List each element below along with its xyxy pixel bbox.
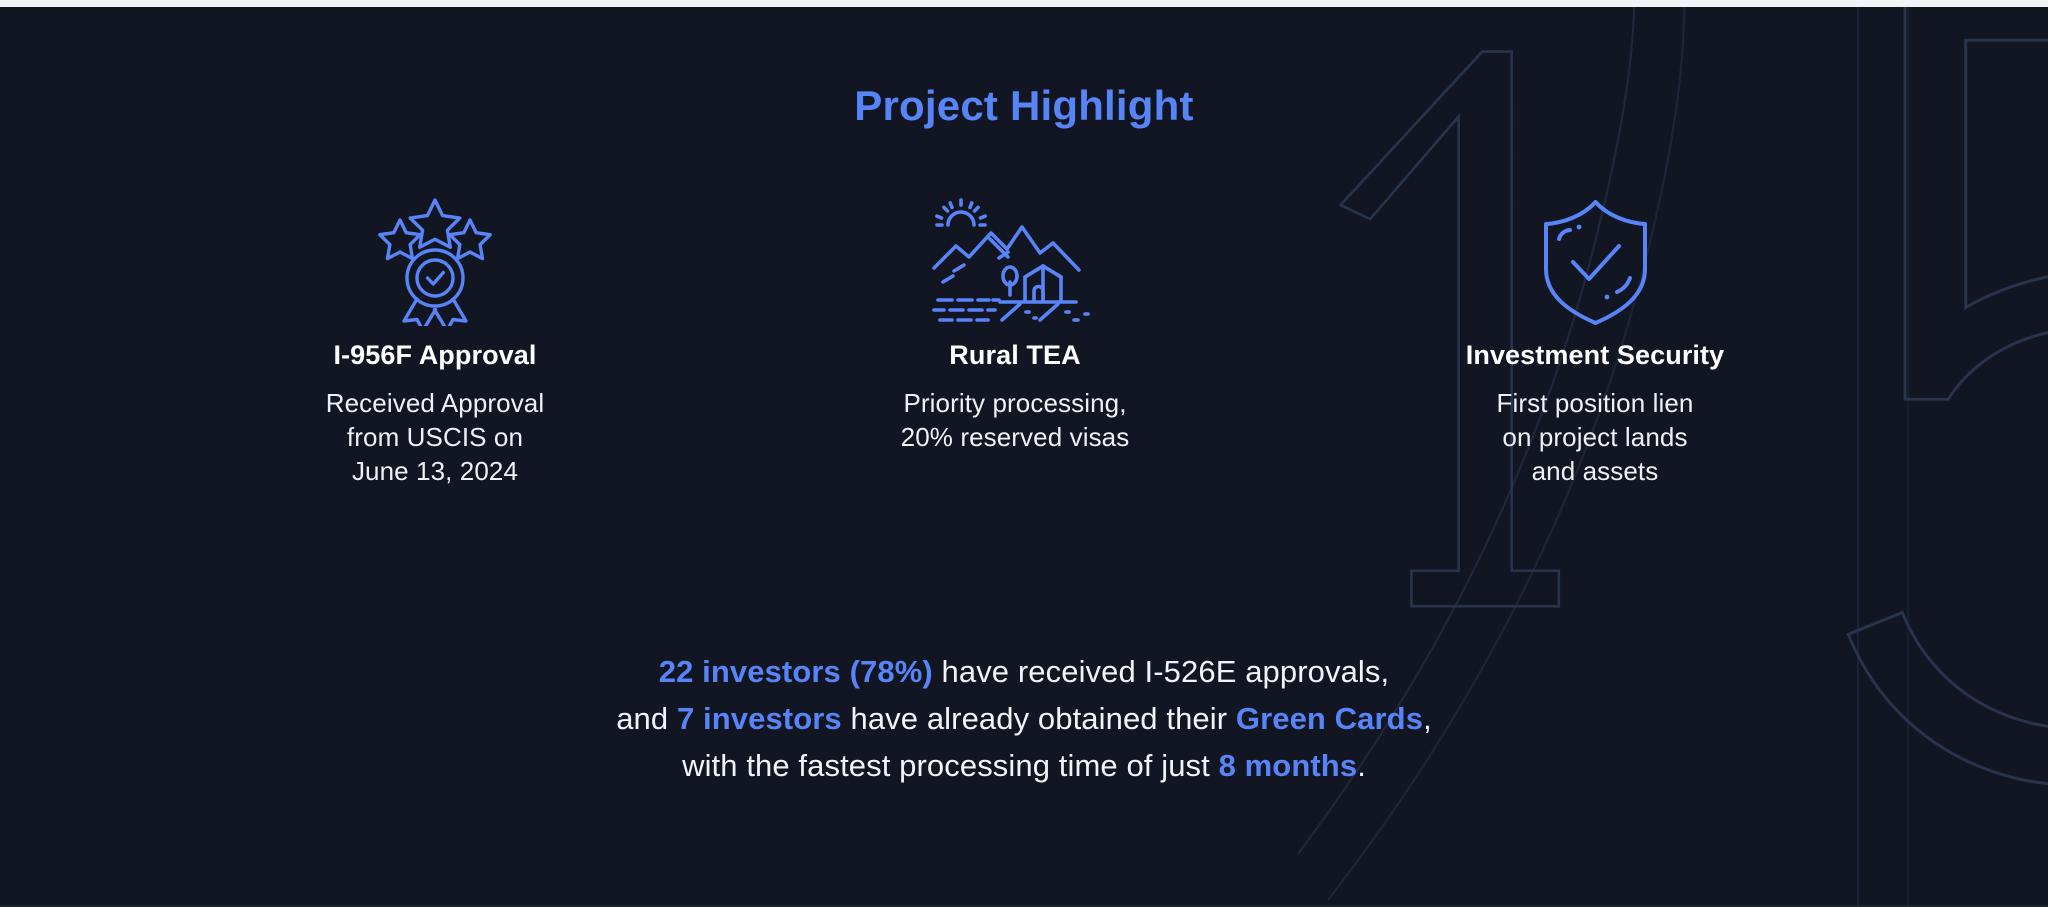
summary-text: have already obtained their xyxy=(842,701,1236,736)
card-body-line: Received Approval xyxy=(326,387,545,421)
summary-investors-count: 22 investors (78%) xyxy=(659,654,933,689)
card-body-line: First position lien xyxy=(1497,387,1694,421)
summary-line-1: 22 investors (78%) have received I-526E … xyxy=(0,648,2048,695)
summary-line-3: with the fastest processing time of just… xyxy=(0,742,2048,789)
card-title: Rural TEA xyxy=(949,340,1080,371)
panel-content: Project Highlight xyxy=(0,0,2048,907)
card-body-line: 20% reserved visas xyxy=(901,421,1130,455)
card-body-line: and assets xyxy=(1497,455,1694,489)
card-title: I-956F Approval xyxy=(333,340,536,371)
summary-fastest-time: 8 months xyxy=(1219,748,1358,783)
summary-text: with the fastest processing time of just xyxy=(682,748,1219,783)
top-edge-strip xyxy=(0,0,2048,7)
card-body-line: on project lands xyxy=(1497,421,1694,455)
card-body: Priority processing, 20% reserved visas xyxy=(901,387,1130,455)
investor-summary: 22 investors (78%) have received I-526E … xyxy=(0,648,2048,789)
highlight-card-investment-security: Investment Security First position lien … xyxy=(1360,190,1830,488)
highlight-card-rural-tea: Rural TEA Priority processing, 20% reser… xyxy=(780,190,1250,455)
rural-landscape-icon xyxy=(930,190,1100,330)
award-badge-icon xyxy=(360,190,510,330)
summary-text: . xyxy=(1357,748,1366,783)
summary-greencard-investors: 7 investors xyxy=(677,701,842,736)
highlight-card-i956f: I-956F Approval Received Approval from U… xyxy=(200,190,670,488)
summary-text: and xyxy=(616,701,677,736)
card-title: Investment Security xyxy=(1466,340,1725,371)
summary-line-2: and 7 investors have already obtained th… xyxy=(0,695,2048,742)
project-highlight-panel: Project Highlight xyxy=(0,0,2048,907)
summary-text: have received I-526E approvals, xyxy=(933,654,1389,689)
card-body-line: Priority processing, xyxy=(901,387,1130,421)
card-body-line: from USCIS on xyxy=(326,421,545,455)
card-body: First position lien on project lands and… xyxy=(1497,387,1694,488)
summary-text: , xyxy=(1423,701,1432,736)
card-body: Received Approval from USCIS on June 13,… xyxy=(326,387,545,488)
page-title: Project Highlight xyxy=(0,82,2048,130)
highlight-cards: I-956F Approval Received Approval from U… xyxy=(0,190,2048,488)
summary-green-cards: Green Cards xyxy=(1236,701,1423,736)
shield-check-icon xyxy=(1533,190,1658,330)
card-body-line: June 13, 2024 xyxy=(326,455,545,489)
